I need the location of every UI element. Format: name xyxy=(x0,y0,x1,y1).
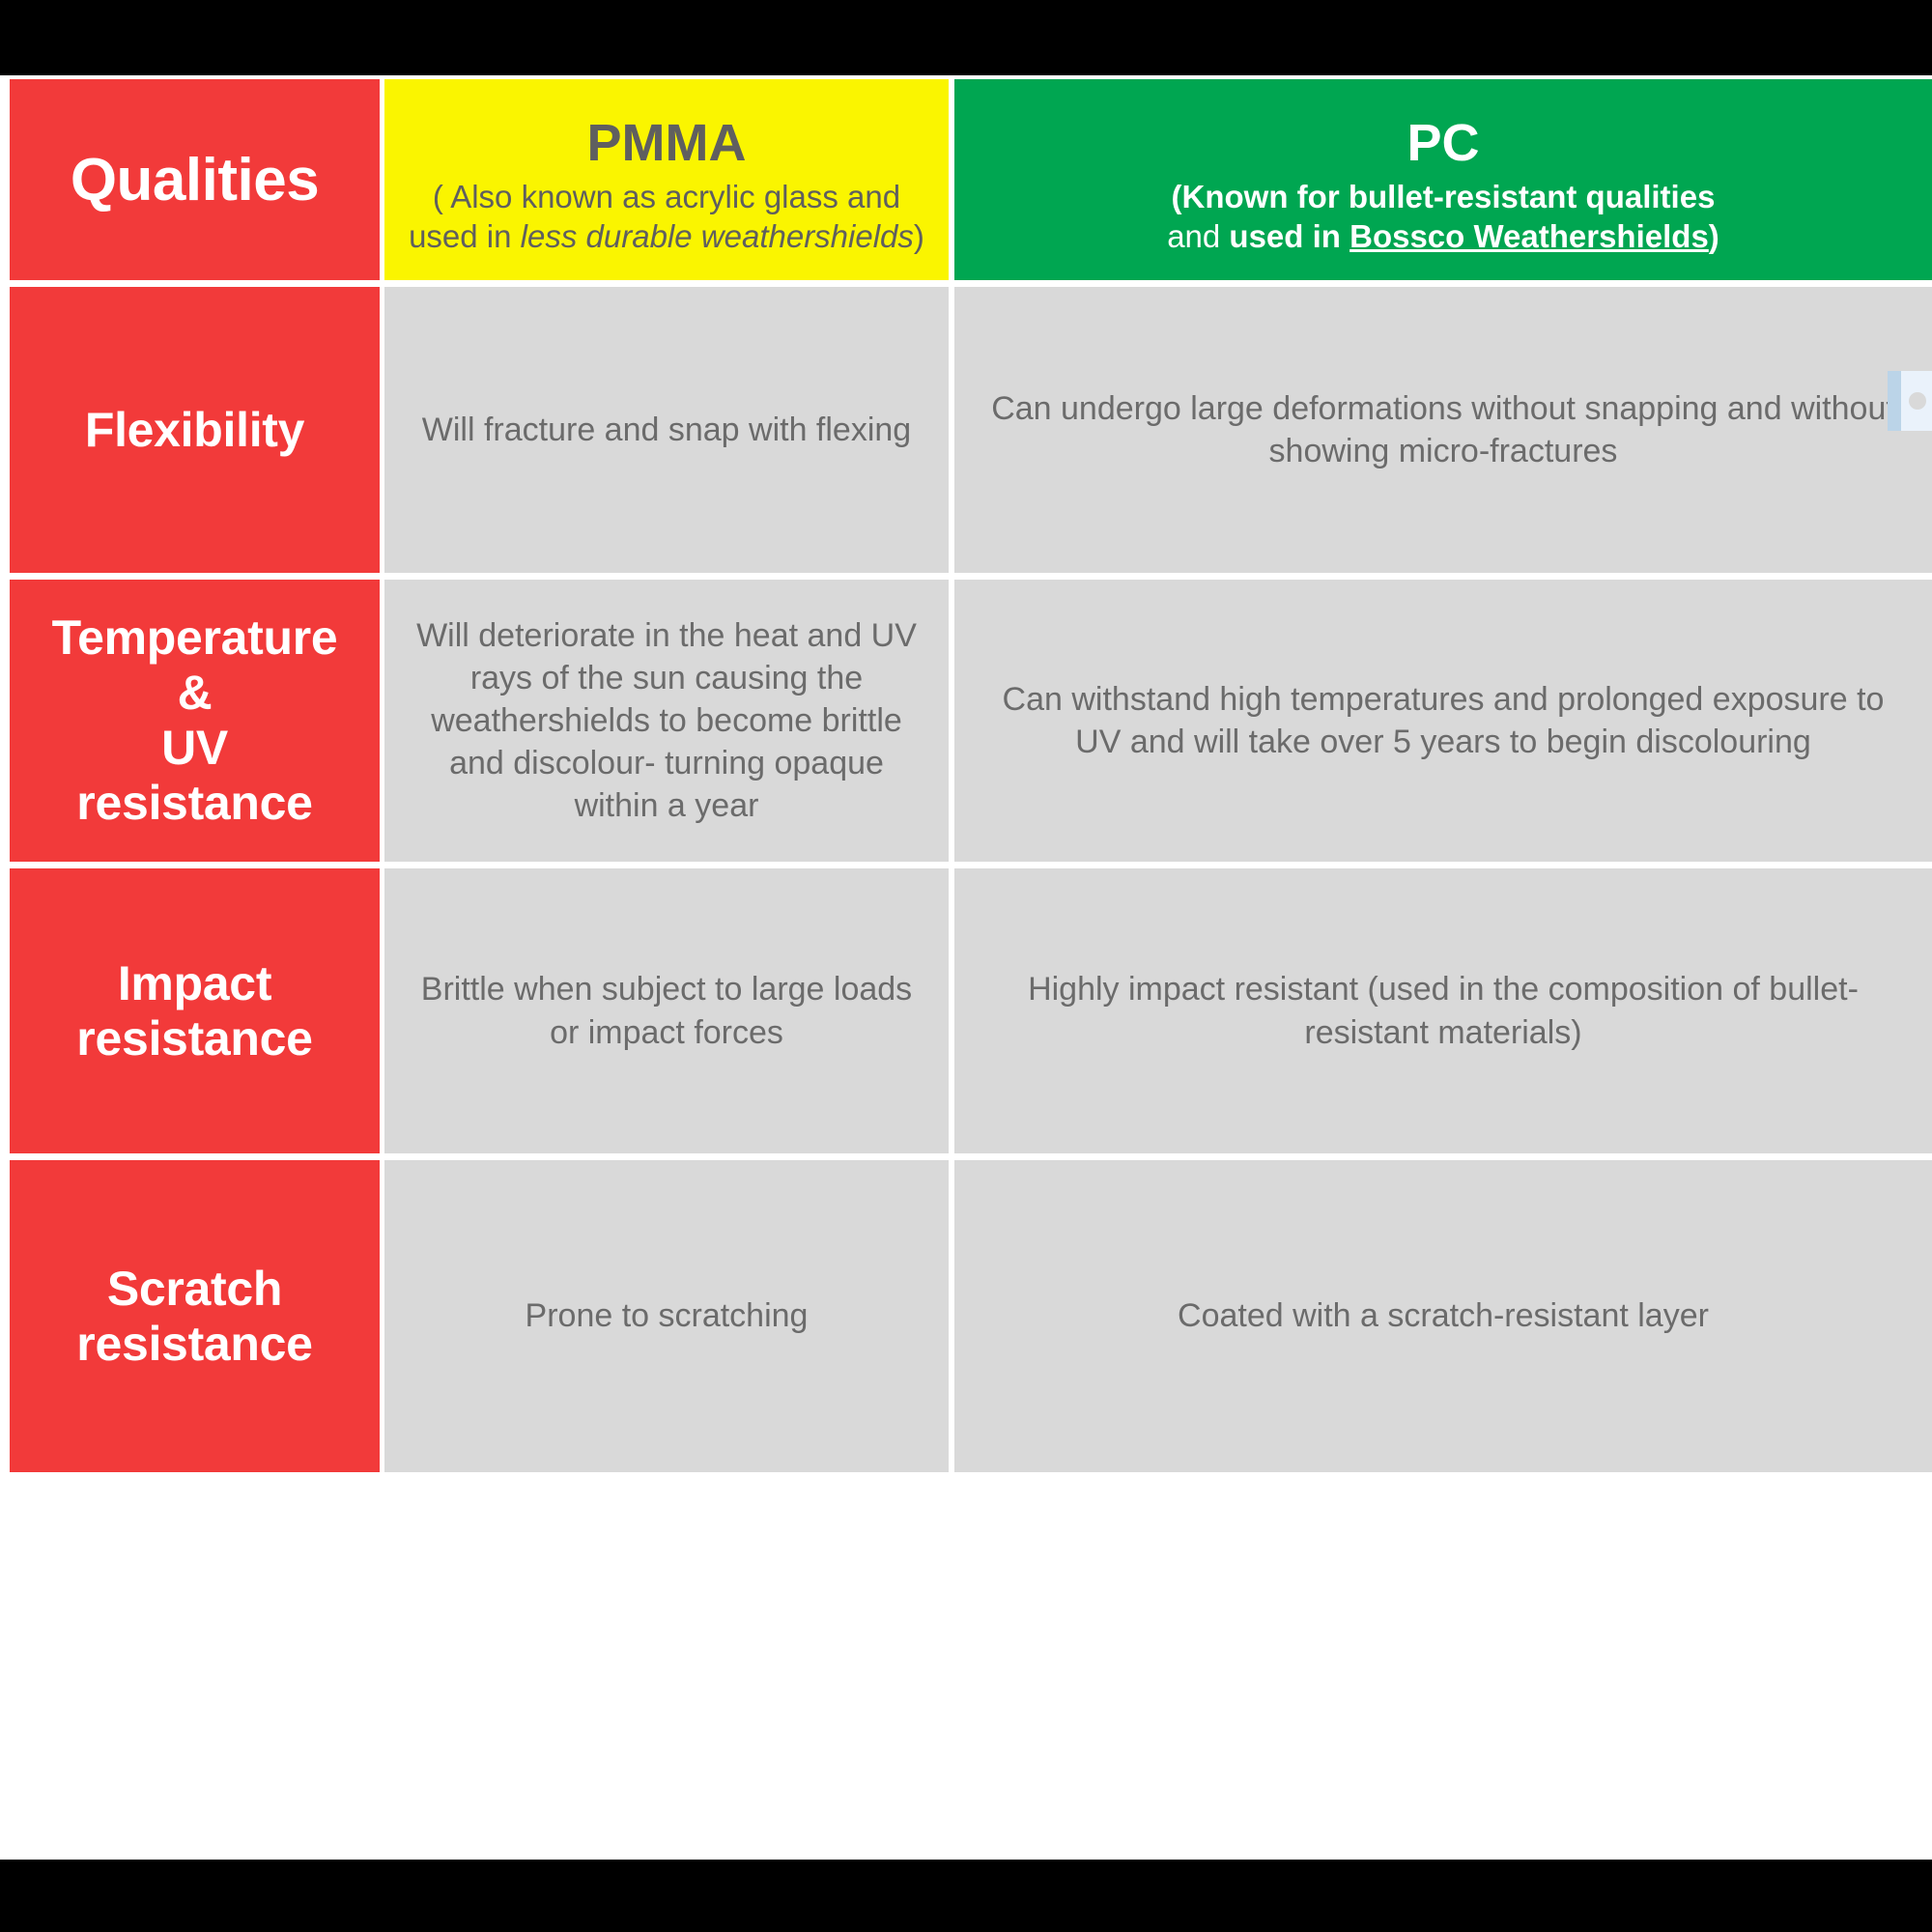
cell-impact-resistance-pc: Highly impact resistant (used in the com… xyxy=(954,868,1932,1153)
header-pmma-subtitle-italic: less durable weathershields xyxy=(521,218,914,254)
table-row: Scratch resistance Prone to scratching C… xyxy=(10,1160,1932,1472)
row-label-line: UV xyxy=(52,721,338,776)
table-row: Temperature & UV resistance Will deterio… xyxy=(10,580,1932,862)
row-label-line: Temperature xyxy=(52,611,338,666)
cell-scratch-resistance-pc: Coated with a scratch-resistant layer xyxy=(954,1160,1932,1472)
table-header-row: Qualities PMMA ( Also known as acrylic g… xyxy=(10,79,1932,280)
row-label-flexibility: Flexibility xyxy=(10,287,380,573)
header-pc-subtitle: (Known for bullet-resistant qualities an… xyxy=(1167,177,1719,257)
header-cell-pc: PC (Known for bullet-resistant qualities… xyxy=(954,79,1932,280)
cell-flexibility-pc: Can undergo large deformations without s… xyxy=(954,287,1932,573)
cell-temperature-uv-pmma: Will deteriorate in the heat and UV rays… xyxy=(384,580,949,862)
header-pc-subtitle-line2-bold: used in xyxy=(1229,218,1350,254)
row-label-scratch-resistance: Scratch resistance xyxy=(10,1160,380,1472)
cell-temperature-uv-pc: Can withstand high temperatures and prol… xyxy=(954,580,1932,862)
header-qualities-label: Qualities xyxy=(71,146,319,214)
header-pc-title: PC xyxy=(1406,116,1479,171)
table-row: Flexibility Will fracture and snap with … xyxy=(10,287,1932,573)
edge-panel-handle-icon xyxy=(1909,392,1926,410)
letterbox-top xyxy=(0,0,1932,75)
page-content-area: Qualities PMMA ( Also known as acrylic g… xyxy=(0,75,1932,1860)
cell-flexibility-pmma: Will fracture and snap with flexing xyxy=(384,287,949,573)
header-pc-subtitle-line2-prefix: and xyxy=(1167,218,1229,254)
header-pmma-subtitle-suffix: ) xyxy=(914,218,924,254)
cell-impact-resistance-pmma: Brittle when subject to large loads or i… xyxy=(384,868,949,1153)
row-label-line: resistance xyxy=(52,776,338,831)
edge-panel-sliver[interactable] xyxy=(1888,371,1932,431)
header-pmma-title: PMMA xyxy=(587,116,747,171)
header-pc-subtitle-line2: and used in Bossco Weathershields) xyxy=(1167,216,1719,256)
header-pc-subtitle-brand-link[interactable]: Bossco Weathershields xyxy=(1350,218,1709,254)
header-pc-subtitle-line1: (Known for bullet-resistant qualities xyxy=(1167,177,1719,216)
letterbox-bottom xyxy=(0,1860,1932,1932)
header-cell-pmma: PMMA ( Also known as acrylic glass and u… xyxy=(384,79,949,280)
material-comparison-table: Qualities PMMA ( Also known as acrylic g… xyxy=(10,79,1932,1479)
cell-scratch-resistance-pmma: Prone to scratching xyxy=(384,1160,949,1472)
header-pmma-subtitle: ( Also known as acrylic glass and used i… xyxy=(400,177,933,257)
header-cell-qualities: Qualities xyxy=(10,79,380,280)
row-label-temperature-uv-resistance: Temperature & UV resistance xyxy=(10,580,380,862)
screenshot-canvas: Qualities PMMA ( Also known as acrylic g… xyxy=(0,0,1932,1932)
header-pc-subtitle-line2-suffix: ) xyxy=(1709,218,1719,254)
row-label-line: & xyxy=(52,666,338,721)
row-label-impact-resistance: Impact resistance xyxy=(10,868,380,1153)
table-row: Impact resistance Brittle when subject t… xyxy=(10,868,1932,1153)
